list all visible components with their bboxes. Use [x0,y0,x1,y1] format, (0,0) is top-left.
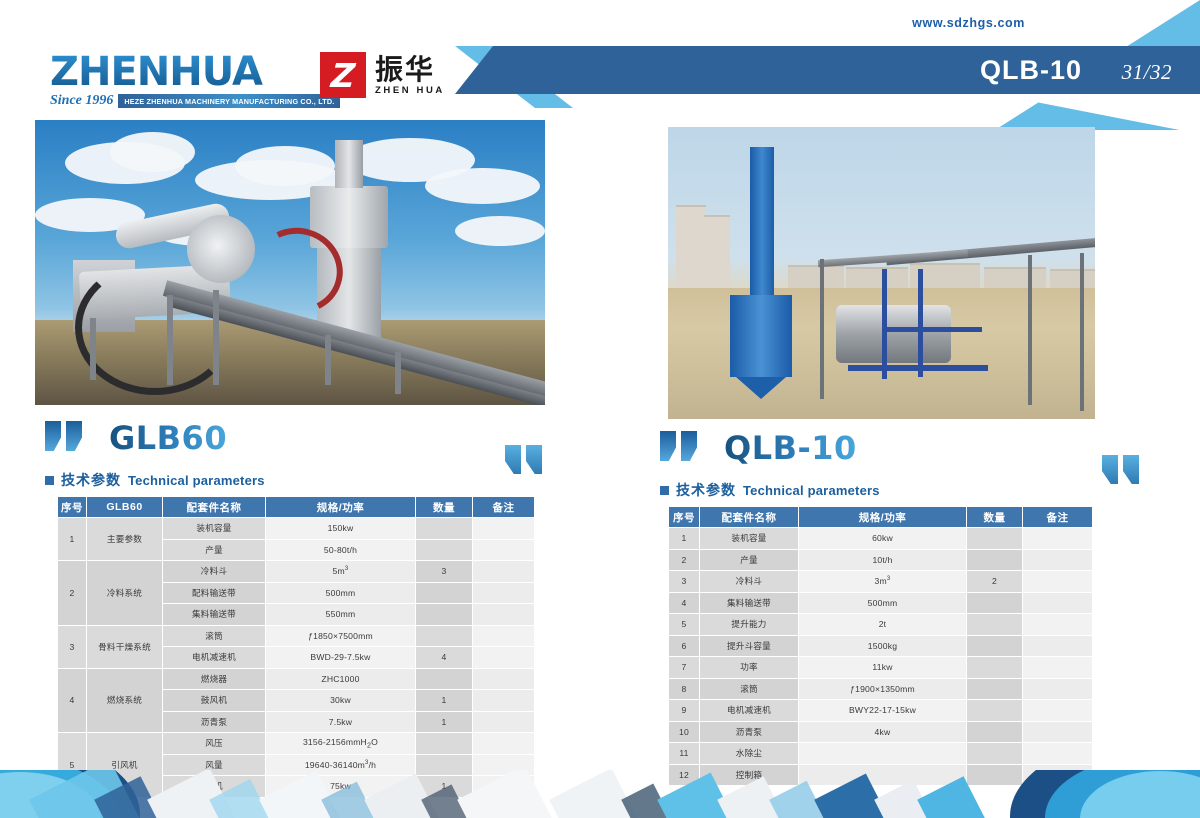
section-title-glb60: GLB60 [109,421,227,455]
table-row: 4集料输送带500mm [669,592,1093,614]
photo-left-chimney [335,140,363,188]
table-cell-name: 电机减速机 [700,700,799,722]
table-cell-remark [473,561,535,583]
brand-since: Since 1996 [50,93,113,109]
brand-company: HEZE ZHENHUA MACHINERY MANUFACTURING CO.… [118,94,340,108]
table-cell-name: 装机容量 [700,528,799,550]
photo-right-post [820,259,824,399]
table-cell-no: 9 [669,700,700,722]
table-cell-spec: 7.5kw [266,711,416,733]
table-cell-no: 7 [669,657,700,679]
footer-decoration [0,770,1200,818]
table-cell-remark [473,733,535,755]
table-cell-remark [1023,743,1093,765]
table-cell-name: 沥青泵 [163,711,266,733]
table-cell-remark [1023,571,1093,593]
section-title-qlb10: QLB-10 [724,431,857,465]
section-subtitle-qlb10: 技术参数 Technical parameters [660,480,1110,500]
spec-table-qlb10: 序号配套件名称规格/功率数量备注 1装机容量60kw2产量10t/h3冷料斗3m… [668,506,1093,786]
table-cell-name: 冷料斗 [700,571,799,593]
section-qlb10: QLB-10 技术参数 Technical parameters [660,425,1110,500]
table-cell-remark [473,582,535,604]
spec-table-glb60-wrap: 序号GLB60配套件名称规格/功率数量备注 1主要参数装机容量150kw产量50… [57,496,534,798]
section-subtitle-glb60: 技术参数 Technical parameters [45,470,585,490]
table-cell-name: 水除尘 [700,743,799,765]
bullet-square-icon [45,476,54,485]
table-cell-spec: 1500kg [799,635,967,657]
table-cell-spec: 3m3 [799,571,967,593]
subtitle-en: Technical parameters [743,483,880,498]
website-url[interactable]: www.sdzhgs.com [912,16,1025,30]
table-cell-qty [967,678,1023,700]
table-cell-remark [473,625,535,647]
table-cell-qty [967,635,1023,657]
page-header: www.sdzhgs.com QLB-10 31/32 ZHENHUA Sinc… [0,0,1200,130]
photo-right-chimney [750,147,774,299]
bullet-square-icon [660,486,669,495]
table-cell-remark [473,518,535,540]
table-row: 2产量10t/h [669,549,1093,571]
spec-table-glb60: 序号GLB60配套件名称规格/功率数量备注 1主要参数装机容量150kw产量50… [57,496,535,798]
table-cell-spec: ƒ1850×7500mm [266,625,416,647]
table-cell-system: 骨料干燥系统 [87,625,163,668]
table-col-header-1: GLB60 [87,497,163,518]
table-col-header-0: 序号 [58,497,87,518]
table-col-header-2: 配套件名称 [163,497,266,518]
table-col-header-0: 序号 [669,507,700,528]
table-cell-remark [1023,721,1093,743]
table-cell-spec: 150kw [266,518,416,540]
table-cell-remark [1023,657,1093,679]
subtitle-en: Technical parameters [128,473,265,488]
table-cell-qty [967,700,1023,722]
table-cell-no: 3 [58,625,87,668]
table-cell-remark [473,668,535,690]
table-cell-remark [1023,549,1093,571]
table-cell-no: 8 [669,678,700,700]
table-cell-spec: 60kw [799,528,967,550]
table-row: 3冷料斗3m32 [669,571,1093,593]
table-cell-spec: 50-80t/h [266,539,416,561]
table-cell-spec: 500mm [799,592,967,614]
table-cell-system: 冷料系统 [87,561,163,626]
table-cell-remark [1023,678,1093,700]
photo-right-hopper [736,377,786,399]
cloud-shape [455,216,545,246]
table-cell-name: 电机减速机 [163,647,266,669]
table-cell-spec: 10t/h [799,549,967,571]
table-cell-spec: ZHC1000 [266,668,416,690]
header-model-title: QLB-10 [980,55,1082,86]
brand-cn-pinyin: ZHEN HUA [375,85,445,96]
quote-open-icon [660,431,702,465]
table-cell-name: 滚筒 [163,625,266,647]
table-cell-spec: 5m3 [266,561,416,583]
table-cell-qty [416,518,473,540]
table-cell-name: 提升斗容量 [700,635,799,657]
table-cell-name: 燃烧器 [163,668,266,690]
table-cell-qty: 4 [416,647,473,669]
photo-right-frame [882,269,887,379]
table-cell-system: 主要参数 [87,518,163,561]
table-cell-no: 4 [669,592,700,614]
table-cell-spec: 550mm [266,604,416,626]
photo-right-building [676,205,706,293]
table-cell-no: 2 [58,561,87,626]
table-cell-no: 3 [669,571,700,593]
photo-right-frame [918,269,923,377]
table-cell-qty [967,592,1023,614]
table-cell-remark [1023,614,1093,636]
table-cell-qty: 1 [416,690,473,712]
table-col-header-5: 备注 [473,497,535,518]
table-cell-spec: 4kw [799,721,967,743]
photo-left-support-leg [167,295,173,385]
quote-open-icon [45,421,87,455]
table-cell-name: 滚筒 [700,678,799,700]
table-cell-name: 鼓风机 [163,690,266,712]
table-cell-qty [416,582,473,604]
table-cell-system: 燃烧系统 [87,668,163,733]
table-cell-no: 1 [58,518,87,561]
photo-right-building [704,215,730,293]
table-cell-remark [473,647,535,669]
table-cell-no: 6 [669,635,700,657]
table-cell-qty [416,625,473,647]
table-cell-remark [1023,592,1093,614]
photo-right-tank [730,295,792,377]
table-cell-qty [967,614,1023,636]
table-row: 8滚筒ƒ1900×1350mm [669,678,1093,700]
table-cell-name: 装机容量 [163,518,266,540]
photo-left-support-leg [395,352,401,394]
photo-left-support-leg [90,318,96,380]
photo-left-support-leg [325,335,331,385]
photo-right-frame [882,327,982,332]
table-cell-no: 11 [669,743,700,765]
brand-z-mark-icon: Z [320,52,366,98]
table-cell-name: 冷料斗 [163,561,266,583]
brand-cn-name: 振华 [375,55,445,84]
section-glb60: GLB60 技术参数 Technical parameters [45,415,585,490]
brand-z-letter: Z [330,59,356,92]
table-col-header-4: 备注 [1023,507,1093,528]
table-cell-spec: 2t [799,614,967,636]
table-cell-spec: BWD-29-7.5kw [266,647,416,669]
table-cell-spec: 30kw [266,690,416,712]
table-cell-remark [1023,700,1093,722]
quote-close-icon [505,445,547,477]
table-cell-name: 提升能力 [700,614,799,636]
table-cell-qty: 1 [416,711,473,733]
table-row: 3骨料干燥系统滚筒ƒ1850×7500mm [58,625,535,647]
table-row: 1主要参数装机容量150kw [58,518,535,540]
table-row: 7功率11kw [669,657,1093,679]
page-number: 31/32 [1122,60,1172,85]
photo-right-drum [836,305,951,363]
table-cell-name: 沥青泵 [700,721,799,743]
table-cell-no: 1 [669,528,700,550]
table-header-row: 序号配套件名称规格/功率数量备注 [669,507,1093,528]
table-col-header-3: 数量 [967,507,1023,528]
table-col-header-3: 规格/功率 [266,497,416,518]
table-cell-qty [416,604,473,626]
table-cell-name: 集料输送带 [163,604,266,626]
table-cell-remark [473,711,535,733]
cloud-shape [110,132,195,172]
table-cell-qty: 2 [967,571,1023,593]
header-dark-band [455,46,1200,94]
table-header-row: 序号GLB60配套件名称规格/功率数量备注 [58,497,535,518]
table-cell-spec: 500mm [266,582,416,604]
table-cell-no: 4 [58,668,87,733]
table-col-header-4: 数量 [416,497,473,518]
photo-left-support-leg [213,290,219,385]
table-row: 1装机容量60kw [669,528,1093,550]
table-cell-name: 功率 [700,657,799,679]
table-cell-qty [967,721,1023,743]
product-photo-qlb10 [668,127,1095,419]
table-cell-qty [967,549,1023,571]
table-cell-spec: 11kw [799,657,967,679]
table-cell-remark [473,539,535,561]
table-row: 2冷料系统冷料斗5m33 [58,561,535,583]
table-cell-name: 风压 [163,733,266,755]
photo-right-frame [848,365,988,371]
table-row: 10沥青泵4kw [669,721,1093,743]
table-cell-remark [473,690,535,712]
table-col-header-2: 规格/功率 [799,507,967,528]
table-cell-no: 5 [669,614,700,636]
subtitle-cn: 技术参数 [61,470,121,490]
table-cell-spec: ƒ1900×1350mm [799,678,967,700]
cloud-shape [425,168,540,204]
table-cell-name: 产量 [700,549,799,571]
cloud-shape [235,146,335,186]
table-cell-qty [967,743,1023,765]
product-photo-glb60 [35,120,545,405]
table-row: 4燃烧系统燃烧器ZHC1000 [58,668,535,690]
quote-close-icon [1102,455,1144,487]
table-cell-qty [416,733,473,755]
table-cell-qty [967,528,1023,550]
table-cell-spec: 3156-2156mmH2O [266,733,416,755]
photo-left-black-hose [75,260,235,395]
table-row: 11水除尘 [669,743,1093,765]
spec-table-qlb10-wrap: 序号配套件名称规格/功率数量备注 1装机容量60kw2产量10t/h3冷料斗3m… [668,506,1092,786]
table-cell-name: 配料输送带 [163,582,266,604]
table-cell-no: 10 [669,721,700,743]
table-cell-no: 2 [669,549,700,571]
table-cell-qty [967,657,1023,679]
table-row: 9电机减速机BWY22-17-15kw [669,700,1093,722]
table-cell-spec: BWY22-17-15kw [799,700,967,722]
table-cell-qty [416,539,473,561]
table-cell-name: 集料输送带 [700,592,799,614]
table-col-header-1: 配套件名称 [700,507,799,528]
table-cell-qty: 3 [416,561,473,583]
subtitle-cn: 技术参数 [676,480,736,500]
table-cell-remark [473,604,535,626]
table-cell-name: 产量 [163,539,266,561]
photo-right-post [1028,255,1032,405]
table-row: 6提升斗容量1500kg [669,635,1093,657]
table-cell-remark [1023,528,1093,550]
photo-right-post [1080,253,1084,411]
table-cell-remark [1023,635,1093,657]
brand-logo-cn[interactable]: Z 振华 ZHEN HUA [320,52,445,98]
table-row: 5提升能力2t [669,614,1093,636]
table-cell-qty [416,668,473,690]
table-row: 5引风机风压3156-2156mmH2O [58,733,535,755]
table-cell-spec [799,743,967,765]
